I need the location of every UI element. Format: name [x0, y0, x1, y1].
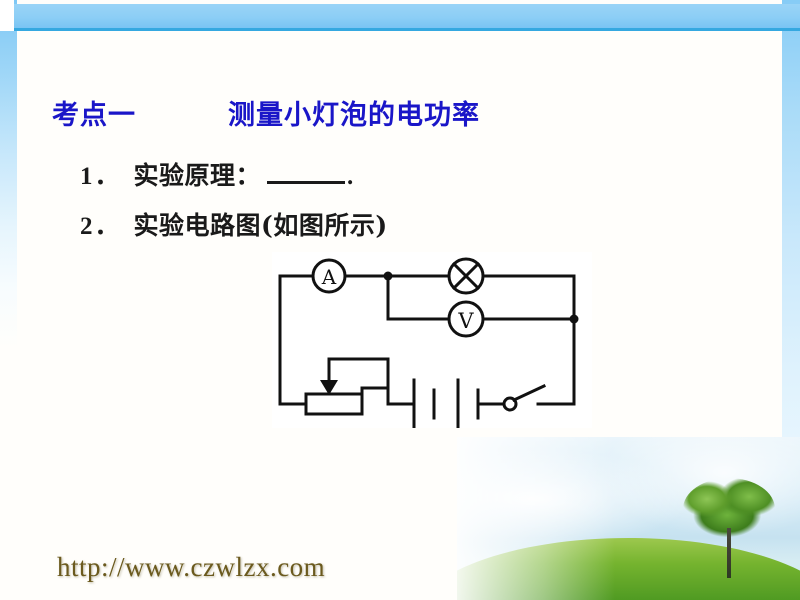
list-item-trailing: .	[347, 163, 353, 191]
slide-canvas: 考点一 测量小灯泡的电功率 1 ． 实验原理： . 2 ． 实验电路图(如图所示…	[0, 0, 800, 600]
wire-rheostat-to-battery	[388, 388, 414, 404]
list-item-text: 实验原理：	[134, 156, 262, 192]
left-accent-bar	[0, 0, 17, 600]
lamp-symbol	[449, 259, 483, 293]
voltmeter-symbol: V	[449, 302, 483, 336]
switch-symbol	[504, 386, 574, 410]
heading-key-label: 考点一	[52, 93, 136, 132]
list-item-dot: ．	[95, 206, 120, 242]
list-item-number: 1	[80, 163, 93, 191]
list-item-text: 实验电路图(如图所示)	[134, 206, 388, 242]
list-item: 2 ． 实验电路图(如图所示)	[80, 206, 388, 242]
tree-icon	[683, 478, 775, 578]
rheostat-body	[306, 394, 362, 414]
ammeter-symbol: A	[313, 260, 345, 292]
svg-text:V: V	[457, 309, 474, 333]
page-title: 考点一 测量小灯泡的电功率	[52, 93, 480, 132]
photo-haze-overlay	[457, 437, 615, 600]
wire-voltmeter-branch	[388, 276, 449, 319]
footer-url[interactable]: http://www.czwlzx.com	[57, 552, 325, 583]
list-item: 1 ． 实验原理： .	[80, 156, 353, 192]
switch-blade[interactable]	[514, 386, 544, 400]
circuit-diagram: A V	[272, 252, 592, 428]
heading-title-text: 测量小灯泡的电功率	[228, 93, 480, 132]
fill-in-blank[interactable]	[267, 161, 345, 184]
junction-node-right	[570, 315, 579, 324]
svg-text:A: A	[321, 265, 337, 289]
list-item-number: 2	[80, 213, 93, 241]
list-item-dot: ．	[95, 156, 120, 192]
battery-symbol	[414, 380, 478, 428]
tree-trunk	[727, 528, 731, 578]
top-accent-bar	[10, 4, 800, 28]
top-divider-rule	[10, 28, 800, 31]
decorative-photo	[457, 437, 800, 600]
top-left-notch	[0, 0, 14, 31]
